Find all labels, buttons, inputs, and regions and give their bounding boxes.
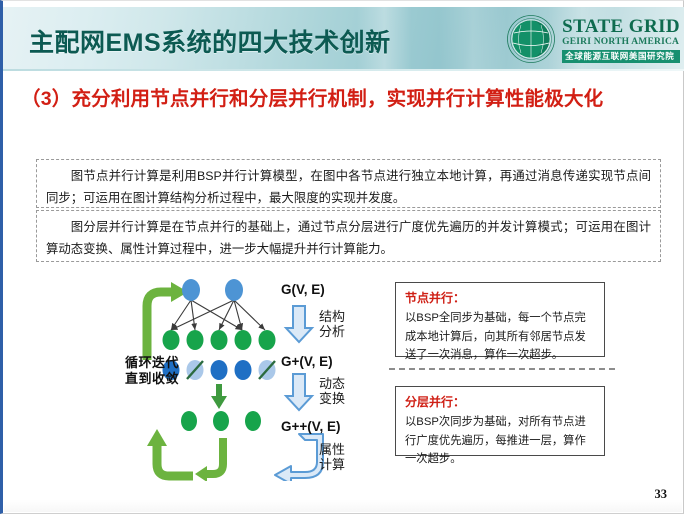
graph-edges <box>171 300 265 330</box>
state-grid-globe-logo-icon <box>506 14 556 64</box>
brand-name-chinese: 全球能源互联网美国研究院 <box>562 50 680 63</box>
graph-label-g-plus-plus: G++(V, E) <box>281 419 341 434</box>
step-2-line-1: 动态 <box>319 376 345 391</box>
step-label-attribute-computation: 属性 计算 <box>319 442 345 473</box>
page-number: 33 <box>655 487 668 502</box>
callout-node-parallel: 节点并行： 以BSP全同步为基础，每一个节点完成本地计算后，向其所有邻居节点发送… <box>395 282 605 357</box>
blue-nodes-row <box>163 360 276 380</box>
page-title: 主配网EMS系统的四大技术创新 <box>29 23 391 59</box>
loop-iteration-label: 循环迭代 直到收敛 <box>125 355 179 387</box>
struck-node-1 <box>187 360 204 380</box>
step-label-structure-analysis: 结构 分析 <box>319 309 345 340</box>
step-3-line-2: 计算 <box>319 457 345 472</box>
callout-1-body: 以BSP全同步为基础，每一个节点完成本地计算后，向其所有邻居节点发送了一次消息，… <box>405 312 586 361</box>
graph-label-g: G(V, E) <box>281 282 325 297</box>
header-divider <box>3 69 684 71</box>
callout-layered-parallel: 分层并行： 以BSP次同步为基础，对所有节点进行广度优先遍历，每推进一层，算作一… <box>395 386 605 456</box>
bottom-green-nodes <box>181 411 261 431</box>
bsp-parallel-diagram: 循环迭代 直到收敛 G(V, E) G+(V, E) G++(V, E) 结构 … <box>133 276 398 481</box>
struck-node-2 <box>259 360 276 380</box>
callout-2-title: 分层并行： <box>405 393 596 412</box>
slide-canvas: 主配网EMS系统的四大技术创新 STATE GRID GEIRI NORTH A… <box>0 0 684 514</box>
brand-subtitle: GEIRI NORTH AMERICA <box>562 38 680 48</box>
down-arrow-outline-2-icon <box>286 374 312 410</box>
callout-divider <box>389 368 615 370</box>
step-2-line-2: 变换 <box>319 391 345 406</box>
callout-1-title: 节点并行： <box>405 289 596 308</box>
loop-arrow-bottom-middle-icon <box>195 438 223 481</box>
curved-left-arrow-outline-icon <box>275 434 323 481</box>
footer-shade <box>4 500 682 512</box>
section-heading: （3）充分利用节点并行和分层并行机制，实现并行计算性能极大化 <box>21 85 657 113</box>
down-arrow-outline-1-icon <box>286 306 312 342</box>
callout-2-body: 以BSP次同步为基础，对所有节点进行广度优先遍历，每推进一层，算作一次超步。 <box>405 416 586 465</box>
step-1-line-1: 结构 <box>319 309 345 324</box>
green-nodes-row <box>163 330 276 350</box>
slide-header-banner: 主配网EMS系统的四大技术创新 STATE GRID GEIRI NORTH A… <box>3 7 684 69</box>
loop-label-line-2: 直到收敛 <box>125 371 179 387</box>
loop-arrow-bottom-left-icon <box>147 429 193 476</box>
green-down-arrow-icon <box>211 384 227 409</box>
body-paragraph-1: 图节点并行计算是利用BSP并行计算模型，在图中各节点进行独立本地计算，再通过消息… <box>36 159 661 208</box>
loop-label-line-1: 循环迭代 <box>125 355 179 371</box>
body-paragraph-2: 图分层并行计算是在节点并行的基础上，通过节点分层进行广度优先遍历的并发计算模式；… <box>36 210 661 262</box>
brand-logo-group: STATE GRID GEIRI NORTH AMERICA 全球能源互联网美国… <box>506 13 680 65</box>
step-1-line-2: 分析 <box>319 324 345 339</box>
graph-label-g-plus: G+(V, E) <box>281 354 333 369</box>
step-3-line-1: 属性 <box>319 442 345 457</box>
brand-text-block: STATE GRID GEIRI NORTH AMERICA 全球能源互联网美国… <box>562 16 680 63</box>
top-blue-nodes <box>182 279 243 301</box>
step-label-dynamic-transform: 动态 变换 <box>319 376 345 407</box>
brand-name: STATE GRID <box>562 17 680 36</box>
